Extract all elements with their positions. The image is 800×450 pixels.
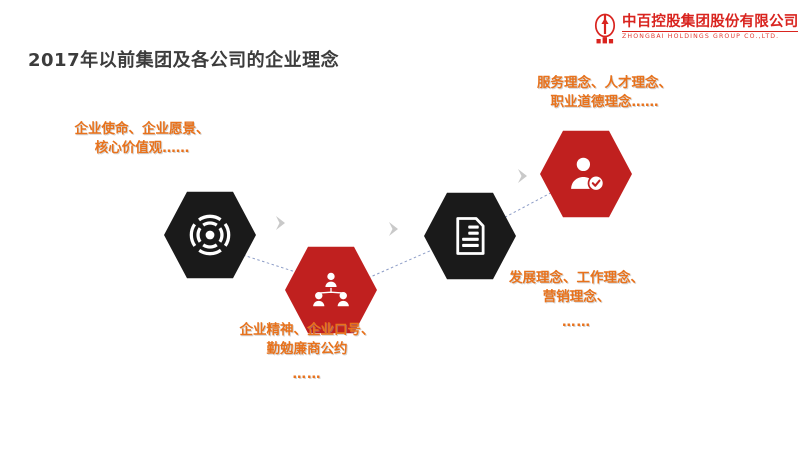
- org-chart-team-icon: [310, 269, 352, 311]
- node-4-caption-line-1: 服务理念、人才理念、: [512, 74, 697, 93]
- person-check-approved-icon: [565, 153, 607, 195]
- chevron-right-icon: [384, 218, 406, 240]
- node-1-caption: 企业使命、企业愿景、 核心价值观……: [52, 120, 232, 157]
- node-2-caption-line-1: 企业精神、企业口号、: [228, 321, 386, 340]
- node-4-shape: [540, 128, 632, 220]
- node-1-caption-line-2: 核心价值观……: [52, 139, 232, 158]
- company-logo: 中百控股集团股份有限公司 ZHONGBAI HOLDINGS GROUP CO.…: [592, 8, 792, 48]
- slide-canvas: 中百控股集团股份有限公司 ZHONGBAI HOLDINGS GROUP CO.…: [0, 0, 800, 450]
- page-title: 2017年以前集团及各公司的企业理念: [28, 46, 339, 72]
- node-3-caption-line-2: 营销理念、: [484, 288, 669, 307]
- document-file-icon: [449, 215, 491, 257]
- node-2-caption-line-2: 勤勉廉商公约: [228, 340, 386, 359]
- node-4-hexagon[interactable]: [540, 128, 632, 220]
- target-bullseye-icon: [187, 212, 233, 258]
- node-3-caption: 发展理念、工作理念、 营销理念、 ……: [484, 269, 669, 332]
- node-1-shape: [164, 189, 256, 281]
- node-2-caption: 企业精神、企业口号、 勤勉廉商公约 ……: [228, 321, 386, 384]
- node-1-caption-line-1: 企业使命、企业愿景、: [52, 120, 232, 139]
- node-1-hexagon[interactable]: [164, 189, 256, 281]
- node-4-caption-line-2: 职业道德理念……: [512, 93, 697, 112]
- node-2-caption-ellipsis: ……: [228, 365, 386, 384]
- connector-line-2-3: [368, 250, 432, 278]
- node-3-caption-line-1: 发展理念、工作理念、: [484, 269, 669, 288]
- logo-text-block: 中百控股集团股份有限公司 ZHONGBAI HOLDINGS GROUP CO.…: [622, 15, 798, 40]
- logo-chinese-name: 中百控股集团股份有限公司: [622, 15, 798, 32]
- chevron-right-icon: [513, 165, 535, 187]
- node-4-caption: 服务理念、人才理念、 职业道德理念……: [512, 74, 697, 111]
- node-3-caption-ellipsis: ……: [484, 313, 669, 332]
- zhongbai-tower-logo-icon: [592, 12, 618, 44]
- chevron-right-icon: [271, 212, 293, 234]
- logo-english-name: ZHONGBAI HOLDINGS GROUP CO.,LTD.: [622, 34, 798, 40]
